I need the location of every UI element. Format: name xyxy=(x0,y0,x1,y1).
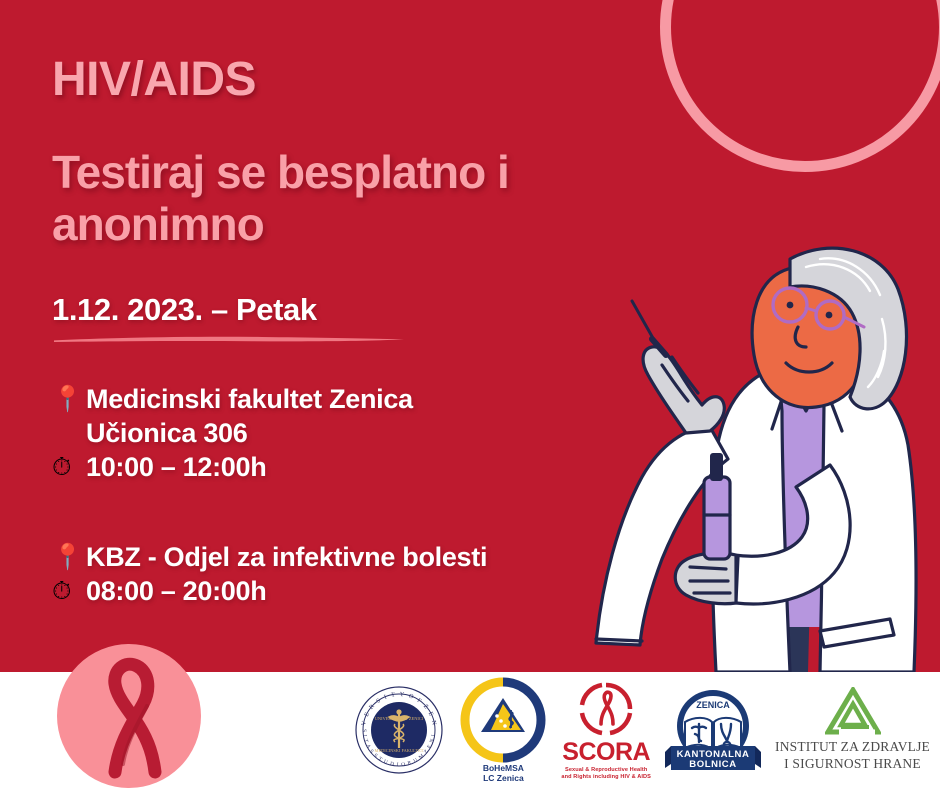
scora-tagline-1: Sexual & Reproductive Health xyxy=(561,767,651,774)
stopwatch-icon: ⏱ xyxy=(52,450,86,484)
logo-institut-za-zdravlje: INSTITUT ZA ZDRAVLJE I SIGURNOST HRANE xyxy=(775,687,930,773)
stopwatch-icon: ⏱ xyxy=(52,574,86,608)
location-1-hours-row: ⏱ 10:00 – 12:00h xyxy=(52,450,413,484)
location-2-hours: 08:00 – 20:00h xyxy=(86,574,266,608)
location-1-room: Učionica 306 xyxy=(86,416,248,450)
pin-icon: 📍 xyxy=(52,382,86,416)
bohemsa-line-2: LC Zenica xyxy=(483,774,524,784)
scora-name: SCORA xyxy=(562,740,650,765)
aids-awareness-ribbon-badge xyxy=(57,644,201,788)
location-block-1: 📍 Medicinski fakultet Zenica Učionica 30… xyxy=(52,382,413,484)
pin-icon: 📍 xyxy=(52,540,86,574)
logo-row: · U N I V E R S I T Y O F Z E N I C A · … xyxy=(353,676,930,784)
location-block-2: 📍 KBZ - Odjel za infektivne bolesti ⏱ 08… xyxy=(52,540,487,608)
logo-scora: SCORA Sexual & Reproductive Health and R… xyxy=(561,680,651,781)
seal-inner-bottom: MEDICINSKI FAKULTET xyxy=(375,748,424,753)
logo-kantonalna-bolnica-zenica: ZENICA KANTONALNA BOLNICA xyxy=(665,684,761,776)
seal-inner-top: UNIVERZITET U ZENICI xyxy=(375,716,424,721)
event-date: 1.12. 2023. – Petak xyxy=(52,292,407,328)
doctor-with-syringe-illustration xyxy=(490,215,940,672)
location-1-name: Medicinski fakultet Zenica xyxy=(86,382,413,416)
location-2-name-row: 📍 KBZ - Odjel za infektivne bolesti xyxy=(52,540,487,574)
headline-block: HIV/AIDS Testiraj se besplatno i anonimn… xyxy=(52,55,612,250)
bolnica-top-text: ZENICA xyxy=(696,700,730,710)
page-title: HIV/AIDS xyxy=(52,55,612,105)
poster: HIV/AIDS Testiraj se besplatno i anonimn… xyxy=(0,0,940,788)
institut-line-1: INSTITUT ZA ZDRAVLJE xyxy=(775,739,930,756)
location-1-room-row: Učionica 306 xyxy=(52,416,413,450)
institut-line-2: I SIGURNOST HRANE xyxy=(775,756,930,773)
logo-bohemsa-lc-zenica: BoHeMSA LC Zenica xyxy=(459,676,547,784)
location-2-name: KBZ - Odjel za infektivne bolesti xyxy=(86,540,487,574)
date-underline-stroke xyxy=(52,334,407,341)
logo-university-of-zenica: · U N I V E R S I T Y O F Z E N I C A · … xyxy=(353,684,445,776)
bolnica-banner-2: BOLNICA xyxy=(689,759,736,770)
location-2-hours-row: ⏱ 08:00 – 20:00h xyxy=(52,574,487,608)
aids-awareness-ribbon-icon xyxy=(57,644,201,788)
page-subtitle: Testiraj se besplatno i anonimno xyxy=(52,147,612,250)
location-1-hours: 10:00 – 12:00h xyxy=(86,450,266,484)
scora-tagline-2: and Rights including HIV & AIDS xyxy=(561,774,651,781)
location-1-name-row: 📍 Medicinski fakultet Zenica xyxy=(52,382,413,416)
event-date-block: 1.12. 2023. – Petak xyxy=(52,292,407,341)
